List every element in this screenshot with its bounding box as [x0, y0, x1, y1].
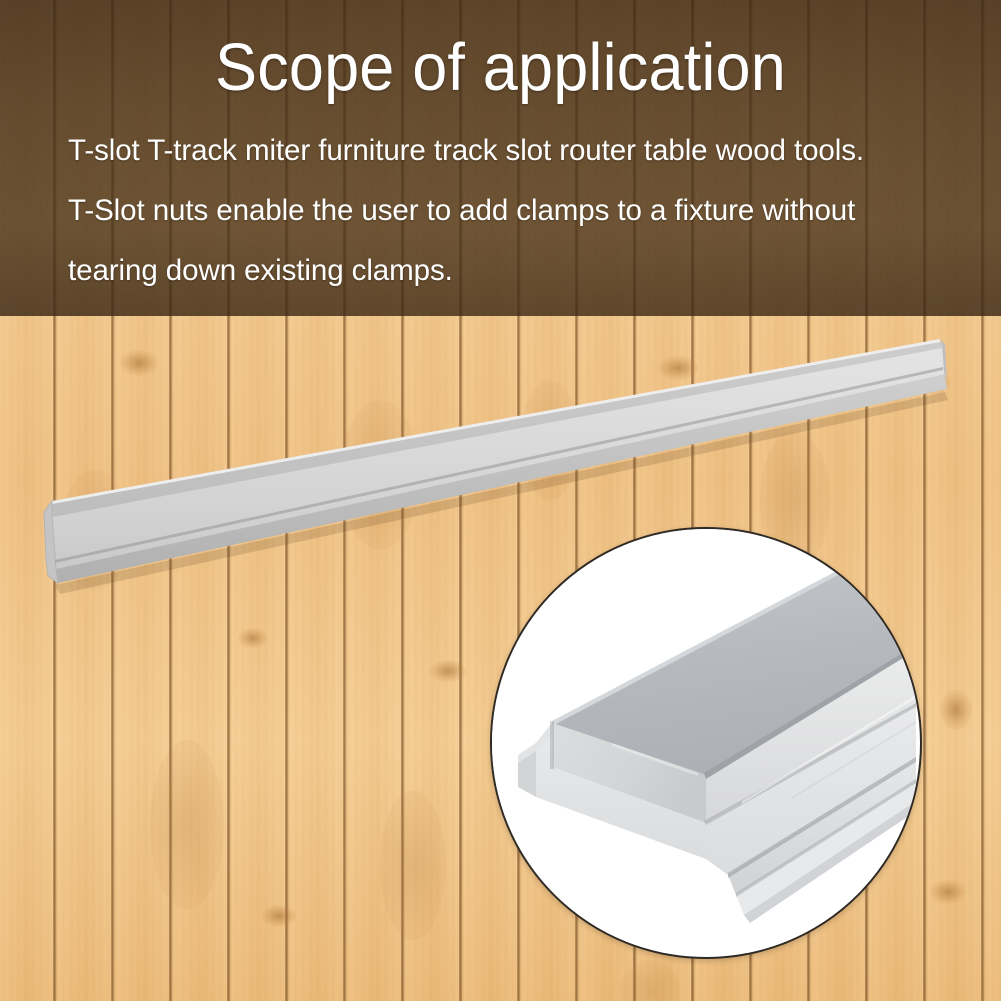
description-line-2: T-Slot nuts enable the user to add clamp…	[68, 194, 984, 228]
product-image-canvas: Scope of application T-slot T-track mite…	[0, 0, 1001, 1001]
t-slot-profile-svg	[492, 529, 916, 953]
t-slot-profile-closeup	[490, 527, 922, 959]
header-text-block: Scope of application T-slot T-track mite…	[0, 0, 1001, 316]
t-slot-end-left-edge	[550, 721, 554, 769]
description-line-1: T-slot T-track miter furniture track slo…	[68, 134, 984, 168]
description-line-3: tearing down existing clamps.	[68, 254, 984, 288]
page-title: Scope of application	[30, 33, 971, 103]
